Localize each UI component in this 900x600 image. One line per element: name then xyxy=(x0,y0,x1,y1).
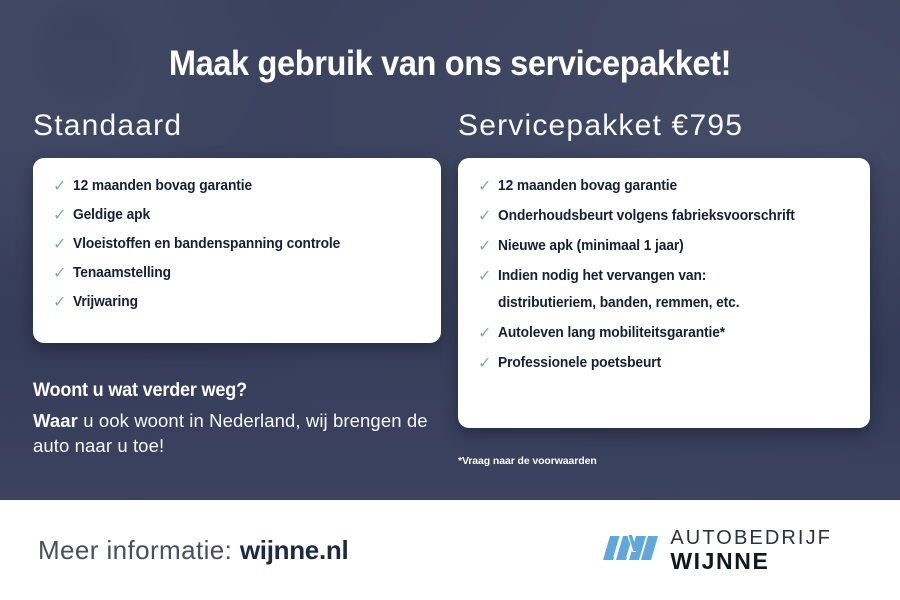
website-link[interactable]: wijnne.nl xyxy=(240,535,349,565)
list-item: ✓ Geldige apk xyxy=(53,207,419,223)
brand-logo[interactable]: AUTOBEDRIJF WIJNNE xyxy=(602,528,870,573)
list-item: ✓ Tenaamstelling xyxy=(53,265,419,281)
check-icon: ✓ xyxy=(478,356,491,372)
list-item: ✓ Professionele poetsbeurt xyxy=(478,355,848,371)
feature-label: Vrijwaring xyxy=(73,294,138,310)
logo-line-autobedrijf: AUTOBEDRIJF xyxy=(670,528,832,548)
delivery-answer-bold: Waar xyxy=(33,410,78,431)
page-title: Maak gebruik van ons servicepakket! xyxy=(32,44,869,84)
feature-list-servicepakket: ✓ 12 maanden bovag garantie ✓ Onderhouds… xyxy=(478,178,848,371)
list-item: ✓ Nieuwe apk (minimaal 1 jaar) xyxy=(478,238,848,254)
delivery-message: Woont u wat verder weg? Waar u ook woont… xyxy=(33,380,433,458)
feature-list-standaard: ✓ 12 maanden bovag garantie ✓ Geldige ap… xyxy=(53,178,419,310)
more-info-label: Meer informatie: xyxy=(38,535,232,565)
column-title-standaard: Standaard xyxy=(33,110,441,142)
check-icon: ✓ xyxy=(478,269,491,285)
feature-label-continuation: distributieriem, banden, remmen, etc. xyxy=(498,295,739,311)
feature-label: Vloeistoffen en bandenspanning controle xyxy=(73,236,340,252)
list-item: ✓ Vloeistoffen en bandenspanning control… xyxy=(53,236,419,252)
column-standaard: Standaard ✓ 12 maanden bovag garantie ✓ … xyxy=(33,110,441,343)
column-servicepakket: Servicepakket €795 ✓ 12 maanden bovag ga… xyxy=(458,110,870,428)
delivery-answer-rest: u ook woont in Nederland, wij brengen de… xyxy=(33,410,428,456)
feature-label: Onderhoudsbeurt volgens fabrieksvoorschr… xyxy=(498,208,795,224)
check-icon: ✓ xyxy=(478,209,491,225)
card-servicepakket: ✓ 12 maanden bovag garantie ✓ Onderhouds… xyxy=(458,158,870,428)
check-icon: ✓ xyxy=(478,179,491,195)
check-icon: ✓ xyxy=(53,237,66,253)
list-item: ✓ 12 maanden bovag garantie xyxy=(478,178,848,194)
feature-label: Geldige apk xyxy=(73,207,150,223)
check-icon: ✓ xyxy=(53,179,66,195)
logo-line-wijnne: WIJNNE xyxy=(670,550,832,573)
list-item: ✓ Indien nodig het vervangen van: distri… xyxy=(478,268,848,311)
feature-label: Nieuwe apk (minimaal 1 jaar) xyxy=(498,238,684,254)
feature-label: Tenaamstelling xyxy=(73,265,171,281)
feature-label: 12 maanden bovag garantie xyxy=(498,178,677,194)
list-item: ✓ 12 maanden bovag garantie xyxy=(53,178,419,194)
list-item: ✓ Vrijwaring xyxy=(53,294,419,310)
footnote-voorwaarden: *Vraag naar de voorwaarden xyxy=(458,455,597,467)
check-icon: ✓ xyxy=(53,266,66,282)
delivery-question: Woont u wat verder weg? xyxy=(33,380,413,402)
feature-label: Autoleven lang mobiliteitsgarantie* xyxy=(498,325,725,341)
check-icon: ✓ xyxy=(478,326,491,342)
feature-label: Indien nodig het vervangen van: xyxy=(498,268,706,284)
card-standaard: ✓ 12 maanden bovag garantie ✓ Geldige ap… xyxy=(33,158,441,343)
check-icon: ✓ xyxy=(53,208,66,224)
feature-label: 12 maanden bovag garantie xyxy=(73,178,252,194)
check-icon: ✓ xyxy=(53,295,66,311)
list-item: ✓ Autoleven lang mobiliteitsgarantie* xyxy=(478,325,848,341)
feature-label-with-continuation: Indien nodig het vervangen van: distribu… xyxy=(498,268,739,311)
wijnne-logo-mark-icon xyxy=(602,530,658,571)
delivery-answer: Waar u ook woont in Nederland, wij breng… xyxy=(33,408,433,458)
footer-bar: Meer informatie: wijnne.nl xyxy=(0,500,900,600)
more-info-text: Meer informatie: wijnne.nl xyxy=(38,535,348,566)
check-icon: ✓ xyxy=(478,239,491,255)
logo-wordmark: AUTOBEDRIJF WIJNNE xyxy=(670,528,832,573)
column-title-servicepakket: Servicepakket €795 xyxy=(458,110,870,142)
list-item: ✓ Onderhoudsbeurt volgens fabrieksvoorsc… xyxy=(478,208,848,224)
feature-label: Professionele poetsbeurt xyxy=(498,355,661,371)
promo-poster: Maak gebruik van ons servicepakket! Stan… xyxy=(0,0,900,600)
